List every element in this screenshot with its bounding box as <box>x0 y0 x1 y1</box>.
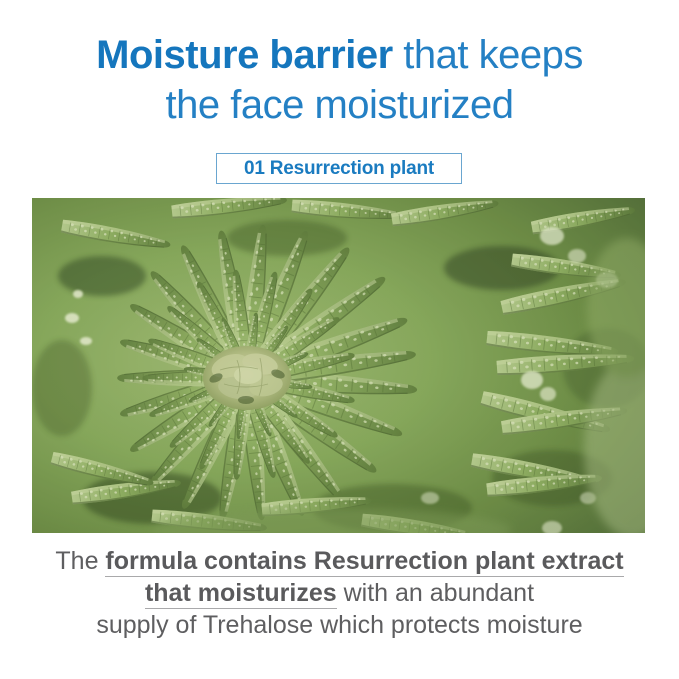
badge-label: 01 Resurrection plant <box>244 159 434 178</box>
headline-rest: that keeps <box>393 33 583 77</box>
caption-text: The formula contains Resurrection plant … <box>0 545 679 641</box>
caption-bold-2: that moisturizes <box>145 579 337 609</box>
status-badge: 01 Resurrection plant <box>216 153 462 184</box>
headline-emphasis: Moisture barrier <box>96 33 393 77</box>
caption-line-3: supply of Trehalose which protects moist… <box>0 609 679 641</box>
resurrection-plant-photo <box>32 198 645 533</box>
caption-line-2: that moisturizes with an abundant <box>0 577 679 609</box>
headline-line-two: the face moisturized <box>0 80 679 130</box>
caption-prefix: The <box>55 547 105 575</box>
caption-bold-1: formula contains Resurrection plant extr… <box>105 547 623 577</box>
caption-line-1: The formula contains Resurrection plant … <box>0 545 679 577</box>
caption-rest-2: with an abundant <box>337 579 534 607</box>
product-marketing-banner: Moisture barrier that keeps the face moi… <box>0 0 679 679</box>
page-title: Moisture barrier that keeps the face moi… <box>0 30 679 130</box>
plant-illustration <box>32 198 645 533</box>
